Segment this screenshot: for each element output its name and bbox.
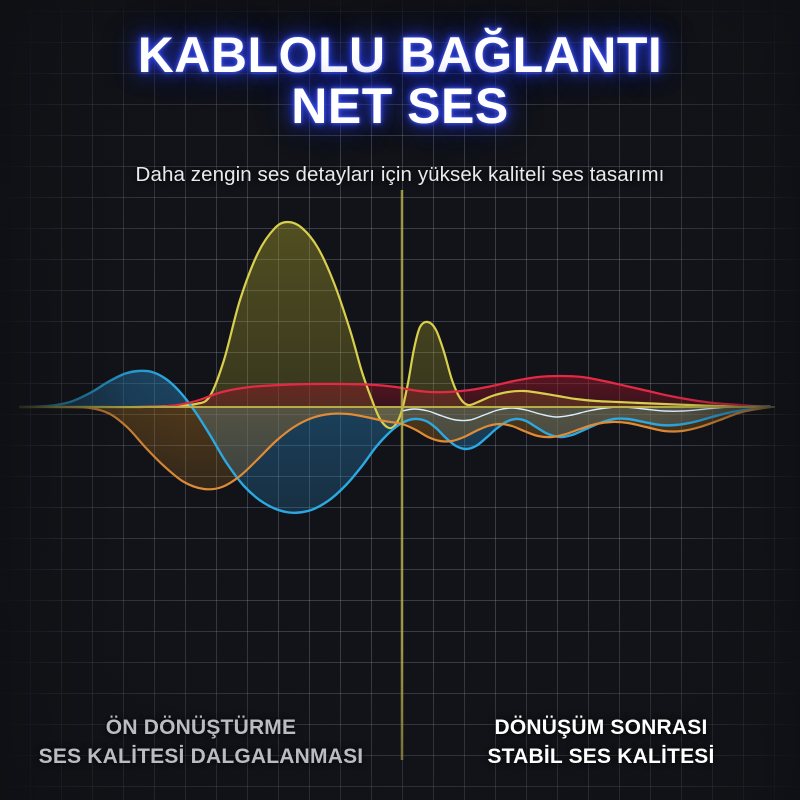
page-title: KABLOLU BAĞLANTI NET SES — [0, 30, 800, 132]
caption-before-conversion: ÖN DÖNÜŞTÜRME SES KALİTESİ DALGALANMASI — [0, 713, 402, 771]
caption-after-conversion: DÖNÜŞÜM SONRASI STABİL SES KALİTESİ — [402, 713, 800, 771]
page-subtitle: Daha zengin ses detayları için yüksek ka… — [0, 163, 800, 187]
sound-waveform-infographic: KABLOLU BAĞLANTI NET SES Daha zengin ses… — [0, 0, 800, 800]
title-line-2: NET SES — [0, 81, 800, 132]
caption-before-line-2: SES KALİTESİ DALGALANMASI — [0, 742, 402, 771]
caption-after-line-1: DÖNÜŞÜM SONRASI — [402, 713, 800, 742]
title-line-1: KABLOLU BAĞLANTI — [0, 30, 800, 81]
caption-before-line-1: ÖN DÖNÜŞTÜRME — [0, 713, 402, 742]
caption-after-line-2: STABİL SES KALİTESİ — [402, 742, 800, 771]
wave-fill-orange — [20, 407, 770, 489]
